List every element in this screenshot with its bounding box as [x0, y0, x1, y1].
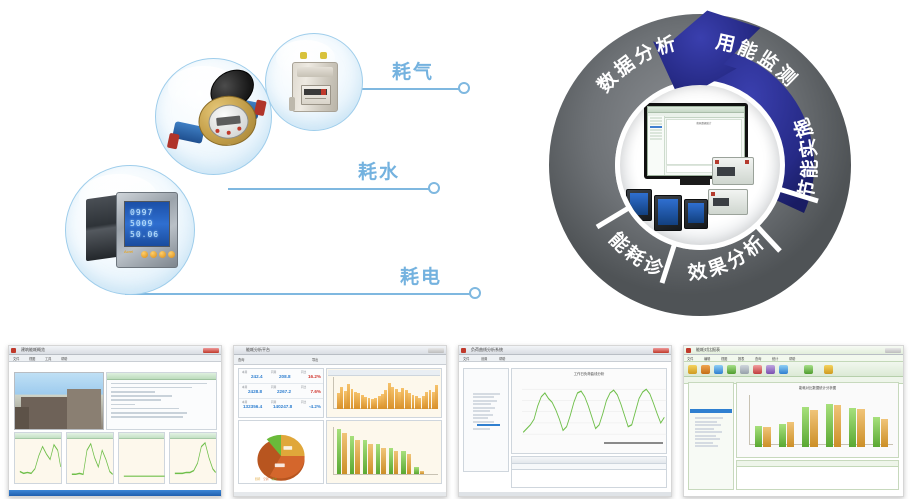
menu-item[interactable]: 视图	[29, 356, 35, 361]
info-line	[111, 412, 187, 414]
hub-din-indicator	[715, 160, 719, 164]
menu-item[interactable]: 统计	[772, 356, 778, 361]
kpi-caption: 同比	[301, 385, 306, 389]
bar	[787, 422, 794, 447]
toolbar-icon[interactable]	[824, 365, 833, 374]
bar	[849, 408, 856, 447]
app-icon	[461, 348, 466, 353]
chart-panel-header	[119, 433, 165, 439]
wheel-hub-image: 能耗数据统计	[620, 85, 780, 245]
window-title: 建筑能耗概览	[21, 347, 45, 353]
kpi-value-change: 16.2%	[308, 374, 321, 379]
kpi-caption: 同期	[271, 370, 276, 374]
detail-header	[737, 461, 898, 467]
window-toolbar[interactable]: 查询 导出	[234, 355, 446, 365]
menu-item[interactable]: 编辑	[704, 356, 710, 361]
info-panel-header	[107, 373, 216, 380]
label-water-consumption: 耗水	[358, 157, 400, 184]
kpi-value-change: -4.2%	[309, 404, 321, 409]
bubble-electric-meter: 0997 5009 50.06 Acrel	[65, 165, 195, 295]
hub-din-display	[717, 167, 735, 176]
tree-node[interactable]	[473, 428, 490, 430]
tree-node[interactable]	[473, 417, 488, 419]
menu-item[interactable]: 文件	[463, 356, 469, 361]
window-titlebar: 负荷曲线分析系统	[459, 346, 671, 355]
window-statusbar	[234, 492, 446, 496]
sparkline-electricity	[19, 441, 61, 478]
electric-meter-button[interactable]	[141, 251, 148, 258]
bar-pair	[779, 397, 795, 447]
y-axis	[333, 377, 334, 409]
bar	[420, 471, 424, 474]
sidebar-row[interactable]	[695, 421, 717, 423]
hub-device-screen	[688, 203, 704, 223]
bar	[802, 407, 809, 447]
trend-chart-panel[interactable]	[66, 432, 114, 484]
load-curve-chart[interactable]: 工作日负荷曲线分析	[511, 368, 667, 454]
bar	[342, 433, 346, 474]
device-tree[interactable]	[467, 391, 505, 449]
building-shape	[67, 389, 101, 429]
ranking-bar-chart[interactable]	[326, 420, 442, 484]
kpi-value-previous: 2267.2	[277, 389, 291, 394]
bar	[826, 404, 833, 447]
gas-meter-knob-left	[300, 52, 307, 59]
hub-sidebar-row	[650, 120, 662, 122]
bar	[368, 444, 372, 474]
menu-item[interactable]: 视图	[721, 356, 727, 361]
toolbar-icon[interactable]	[753, 365, 762, 374]
hub-device-screen	[658, 199, 678, 225]
toolbar-button[interactable]: 导出	[312, 357, 318, 362]
bar-pair	[755, 397, 771, 447]
app-icon	[11, 348, 16, 353]
water-meter-icon	[168, 71, 264, 164]
chart-panel-header	[15, 433, 61, 439]
trend-chart-panel[interactable]	[14, 432, 62, 484]
pie-legend: 照明 空调 动力	[255, 477, 277, 481]
electric-meter-button[interactable]	[150, 251, 157, 258]
hub-sidebar-row-selected	[650, 126, 662, 128]
hub-device-lcd-meter	[654, 195, 682, 231]
bar-series	[337, 379, 438, 409]
pie-data-label	[275, 463, 285, 467]
water-meter-index-dot	[227, 131, 231, 135]
menu-item[interactable]: 文件	[687, 356, 693, 361]
hub-din-indicator	[711, 192, 715, 196]
lcd-line-2: 5009	[130, 219, 153, 228]
kpi-value-current: 242.4	[251, 374, 263, 379]
bar-pair	[802, 397, 818, 447]
toolbar-icon[interactable]	[714, 365, 723, 374]
gas-meter-icon	[292, 52, 336, 110]
toolbar-icon[interactable]	[701, 365, 710, 374]
window-title: 能耗分析平台	[246, 347, 270, 353]
window-controls[interactable]	[653, 348, 669, 353]
bar	[401, 451, 405, 475]
bar	[363, 440, 367, 474]
building-shape	[15, 407, 29, 429]
window-statusbar	[9, 490, 221, 496]
bar	[881, 419, 888, 447]
kpi-caption: 同比	[301, 370, 306, 374]
tree-node[interactable]	[473, 414, 493, 416]
building-photo	[14, 372, 104, 430]
y-axis	[749, 395, 750, 445]
table-header	[512, 457, 666, 464]
table-header-row	[512, 464, 666, 470]
sidebar-row[interactable]	[695, 442, 713, 444]
electric-meter-brand: Acrel	[124, 249, 133, 254]
bar-pair	[427, 427, 437, 474]
composition-pie-chart[interactable]: 照明 空调 动力	[238, 420, 324, 484]
window-controls[interactable]	[203, 348, 219, 353]
gas-meter-red-digit	[321, 89, 326, 95]
info-line	[111, 399, 161, 401]
kpi-value-change: 7.6%	[311, 389, 321, 394]
gas-meter-divider	[305, 98, 326, 99]
water-meter-face	[207, 103, 250, 141]
tree-node[interactable]	[473, 393, 500, 395]
navigation-sidebar[interactable]	[463, 368, 509, 472]
window-controls[interactable]	[885, 348, 901, 353]
y-axis	[333, 427, 334, 475]
window-title: 负荷曲线分析系统	[471, 347, 503, 353]
menu-item[interactable]: 帮助	[61, 356, 67, 361]
bar	[810, 410, 817, 448]
bar	[350, 436, 354, 474]
bar-pair	[363, 427, 373, 474]
menu-item[interactable]: 帮助	[499, 356, 505, 361]
connector-line-water	[228, 188, 432, 190]
water-meter-index-dot	[237, 126, 241, 130]
kpi-caption: 同期	[271, 385, 276, 389]
bar	[407, 454, 411, 474]
bubble-gas-meter	[265, 33, 363, 131]
compare-bar-chart[interactable]: 能耗对比数据统计分析图	[736, 382, 899, 458]
screenshot-compare-report[interactable]: 能耗对比报表 文件 编辑 视图 报表 查询 统计 帮助	[683, 345, 904, 497]
kpi-value-previous: 140247.8	[273, 404, 292, 409]
bar-pair	[376, 427, 386, 474]
info-line	[111, 416, 183, 418]
paired-bar-series	[751, 397, 892, 447]
menu-item[interactable]: 查询	[755, 356, 761, 361]
toolbar-icon[interactable]	[766, 365, 775, 374]
bar	[755, 426, 762, 447]
hub-device-din-rail-meter	[708, 189, 748, 215]
bar-pair	[389, 427, 399, 474]
menu-item[interactable]: 报表	[738, 356, 744, 361]
hub-din-indicator	[745, 160, 749, 164]
sparkline-water	[71, 441, 113, 478]
gas-meter-body	[292, 62, 338, 112]
bar	[779, 424, 786, 447]
bar	[834, 405, 841, 447]
hub-monitor-stand	[680, 177, 710, 185]
load-curve-svg	[522, 378, 667, 444]
water-meter-register	[216, 115, 241, 125]
table-row: 本期 同期 同比 132356.4 140247.8 -4.2%	[239, 399, 323, 413]
pie-data-label	[283, 446, 292, 450]
sidebar-row[interactable]	[695, 435, 716, 437]
info-line	[111, 408, 179, 410]
hub-app-sidebar	[648, 116, 665, 175]
report-sidebar[interactable]	[688, 382, 734, 490]
bar-pair	[337, 427, 347, 474]
tree-node[interactable]	[473, 421, 494, 423]
bar	[414, 467, 418, 474]
sidebar-row[interactable]	[695, 417, 723, 419]
toolbar-icon[interactable]	[740, 365, 749, 374]
connector-endpoint-gas[interactable]	[458, 82, 470, 94]
bar	[376, 444, 380, 474]
bar	[389, 448, 393, 474]
bar-pair	[401, 427, 411, 474]
electric-meter-front: 0997 5009 50.06 Acrel	[116, 192, 178, 268]
sparkline-temperature	[174, 441, 216, 478]
window-controls[interactable]	[428, 348, 444, 353]
hub-sidebar-row	[650, 135, 662, 137]
sidebar-row[interactable]	[695, 424, 721, 426]
tree-node[interactable]	[473, 407, 495, 409]
kpi-value-current: 132356.4	[243, 404, 262, 409]
hub-sidebar-row	[650, 132, 662, 134]
icon-toolbar[interactable]	[684, 362, 903, 377]
chart-panel-header	[170, 433, 216, 439]
sidebar-row[interactable]	[695, 438, 720, 440]
sidebar-row[interactable]	[695, 428, 714, 430]
load-curve-line	[523, 389, 664, 432]
label-gas-consumption: 耗气	[392, 57, 434, 84]
bar	[381, 448, 385, 474]
sidebar-selected-row[interactable]	[690, 409, 732, 413]
hub-sidebar-row	[650, 138, 662, 140]
bar	[435, 385, 438, 409]
screenshot-load-curve[interactable]: 负荷曲线分析系统 文件 设置 帮助 工作日负荷曲线分	[458, 345, 672, 497]
menu-item[interactable]: 设置	[481, 356, 487, 361]
daily-bar-chart[interactable]	[326, 368, 442, 418]
sidebar-row[interactable]	[695, 431, 722, 433]
gas-meter-pipe	[289, 97, 295, 111]
bar	[857, 409, 864, 448]
hub-chart-title: 能耗数据统计	[667, 121, 741, 125]
toolbar-icon[interactable]	[688, 365, 697, 374]
bar	[873, 417, 880, 447]
grid-lines	[522, 389, 667, 434]
window-titlebar: 建筑能耗概览	[9, 346, 221, 355]
chart-tabs[interactable]	[328, 370, 440, 376]
tree-node-selected[interactable]	[477, 424, 500, 426]
legend-item: 动力	[271, 477, 276, 481]
window-menubar[interactable]: 文件 视图 工具 帮助	[9, 355, 221, 362]
sparkline-gas	[123, 441, 165, 478]
connector-endpoint-water[interactable]	[428, 182, 440, 194]
screenshot-energy-overview[interactable]: 建筑能耗概览 文件 视图 工具 帮助	[8, 345, 222, 497]
hub-device-lcd-meter	[684, 199, 708, 229]
window-titlebar: 能耗分析平台	[234, 346, 446, 355]
window-titlebar: 能耗对比报表	[684, 346, 903, 355]
hub-device-lcd-meter	[626, 189, 652, 221]
tree-node[interactable]	[473, 410, 490, 412]
gas-meter-knob-right	[320, 52, 327, 59]
water-meter-index-dot	[215, 129, 219, 133]
lcd-line-3: 50.06	[130, 230, 159, 239]
menu-item[interactable]: 文件	[13, 356, 19, 361]
hub-sidebar-row	[650, 129, 662, 131]
info-line	[111, 404, 135, 406]
chart-title: 能耗对比数据统计分析图	[737, 385, 898, 390]
hub-sidebar-row	[650, 123, 662, 125]
infographic-canvas: 耗气 耗水 耗电	[0, 0, 910, 499]
tree-node[interactable]	[473, 396, 494, 398]
legend-item: 照明	[255, 477, 260, 481]
chart-title: 工作日负荷曲线分析	[512, 371, 666, 376]
chart-scrollbar[interactable]	[604, 442, 663, 444]
legend-item: 空调	[263, 477, 268, 481]
sidebar-row[interactable]	[695, 445, 718, 447]
info-line	[111, 395, 172, 397]
bar	[394, 451, 398, 474]
menu-item[interactable]: 帮助	[789, 356, 795, 361]
electric-meter-lcd: 0997 5009 50.06	[124, 201, 170, 247]
window-menubar[interactable]: 文件 设置 帮助	[459, 355, 671, 362]
toolbar-button[interactable]: 查询	[238, 357, 244, 362]
energy-management-cycle-wheel: 用能监测 数据分析 能耗诊断 效果分析 节能实施	[540, 5, 860, 325]
bar	[355, 440, 359, 474]
kpi-caption: 同比	[301, 400, 306, 404]
data-table[interactable]	[511, 456, 667, 488]
hub-sidebar-row	[650, 117, 662, 119]
kpi-table: 本期 同期 同比 242.4 208.8 16.2% 本期 同期 同比 2428…	[238, 368, 324, 418]
kpi-value-current: 2428.8	[248, 389, 262, 394]
pie-slice-2	[281, 435, 305, 456]
kpi-caption: 本期	[242, 370, 247, 374]
kpi-caption: 本期	[242, 385, 247, 389]
label-electricity-consumption: 耗电	[400, 262, 442, 289]
electric-meter-button[interactable]	[159, 251, 166, 258]
hub-din-display	[713, 198, 729, 206]
water-meter-cap-left	[167, 133, 180, 150]
gas-meter-face	[301, 85, 331, 105]
bar	[337, 429, 341, 474]
connector-line-gas	[352, 88, 462, 90]
info-line	[111, 391, 155, 393]
info-line	[111, 387, 192, 389]
toolbar-icon[interactable]	[727, 365, 736, 374]
lcd-line-1: 0997	[130, 208, 153, 217]
bar-pair	[350, 427, 360, 474]
kpi-value-previous: 208.8	[279, 374, 291, 379]
toolbar-icon[interactable]	[804, 365, 813, 374]
bubble-water-meter	[155, 58, 272, 175]
x-axis	[333, 474, 438, 475]
hub-bar-series	[676, 128, 738, 159]
gas-meter-top	[297, 67, 333, 77]
table-row: 本期 同期 同比 242.4 208.8 16.2%	[239, 369, 323, 384]
window-statusbar	[459, 492, 671, 496]
paired-bar-series	[337, 427, 437, 474]
connector-endpoint-electricity[interactable]	[469, 287, 481, 299]
report-detail-area	[736, 460, 899, 490]
table-row: 本期 同期 同比 2428.8 2267.2 7.6%	[239, 384, 323, 399]
bar-pair	[873, 397, 889, 447]
app-icon	[686, 348, 691, 353]
info-line	[111, 383, 207, 385]
bar-pair	[826, 397, 842, 447]
hub-device-screen	[630, 193, 648, 215]
hub-device-din-rail-meter	[712, 157, 754, 185]
window-title: 能耗对比报表	[696, 347, 720, 353]
menu-item[interactable]: 工具	[45, 356, 51, 361]
electric-panel-meter-icon: 0997 5009 50.06 Acrel	[86, 192, 178, 268]
screenshot-energy-dashboard[interactable]: 能耗分析平台 查询 导出 本期 同期 同比 242.4 208.8 16.2% …	[233, 345, 447, 497]
trend-chart-row	[14, 432, 217, 484]
bar-pair	[849, 397, 865, 447]
toolbar-icon[interactable]	[779, 365, 788, 374]
bar-pair	[414, 427, 424, 474]
chart-panel-header	[67, 433, 113, 439]
electric-meter-button[interactable]	[168, 251, 175, 258]
tree-node[interactable]	[473, 400, 497, 402]
bar	[763, 427, 770, 448]
window-menubar[interactable]: 文件 编辑 视图 报表 查询 统计 帮助	[684, 355, 903, 362]
building-info-panel	[106, 372, 217, 430]
trend-chart-panel[interactable]	[118, 432, 166, 484]
connector-line-electricity	[125, 293, 473, 295]
tree-node[interactable]	[473, 403, 491, 405]
trend-chart-panel[interactable]	[169, 432, 217, 484]
